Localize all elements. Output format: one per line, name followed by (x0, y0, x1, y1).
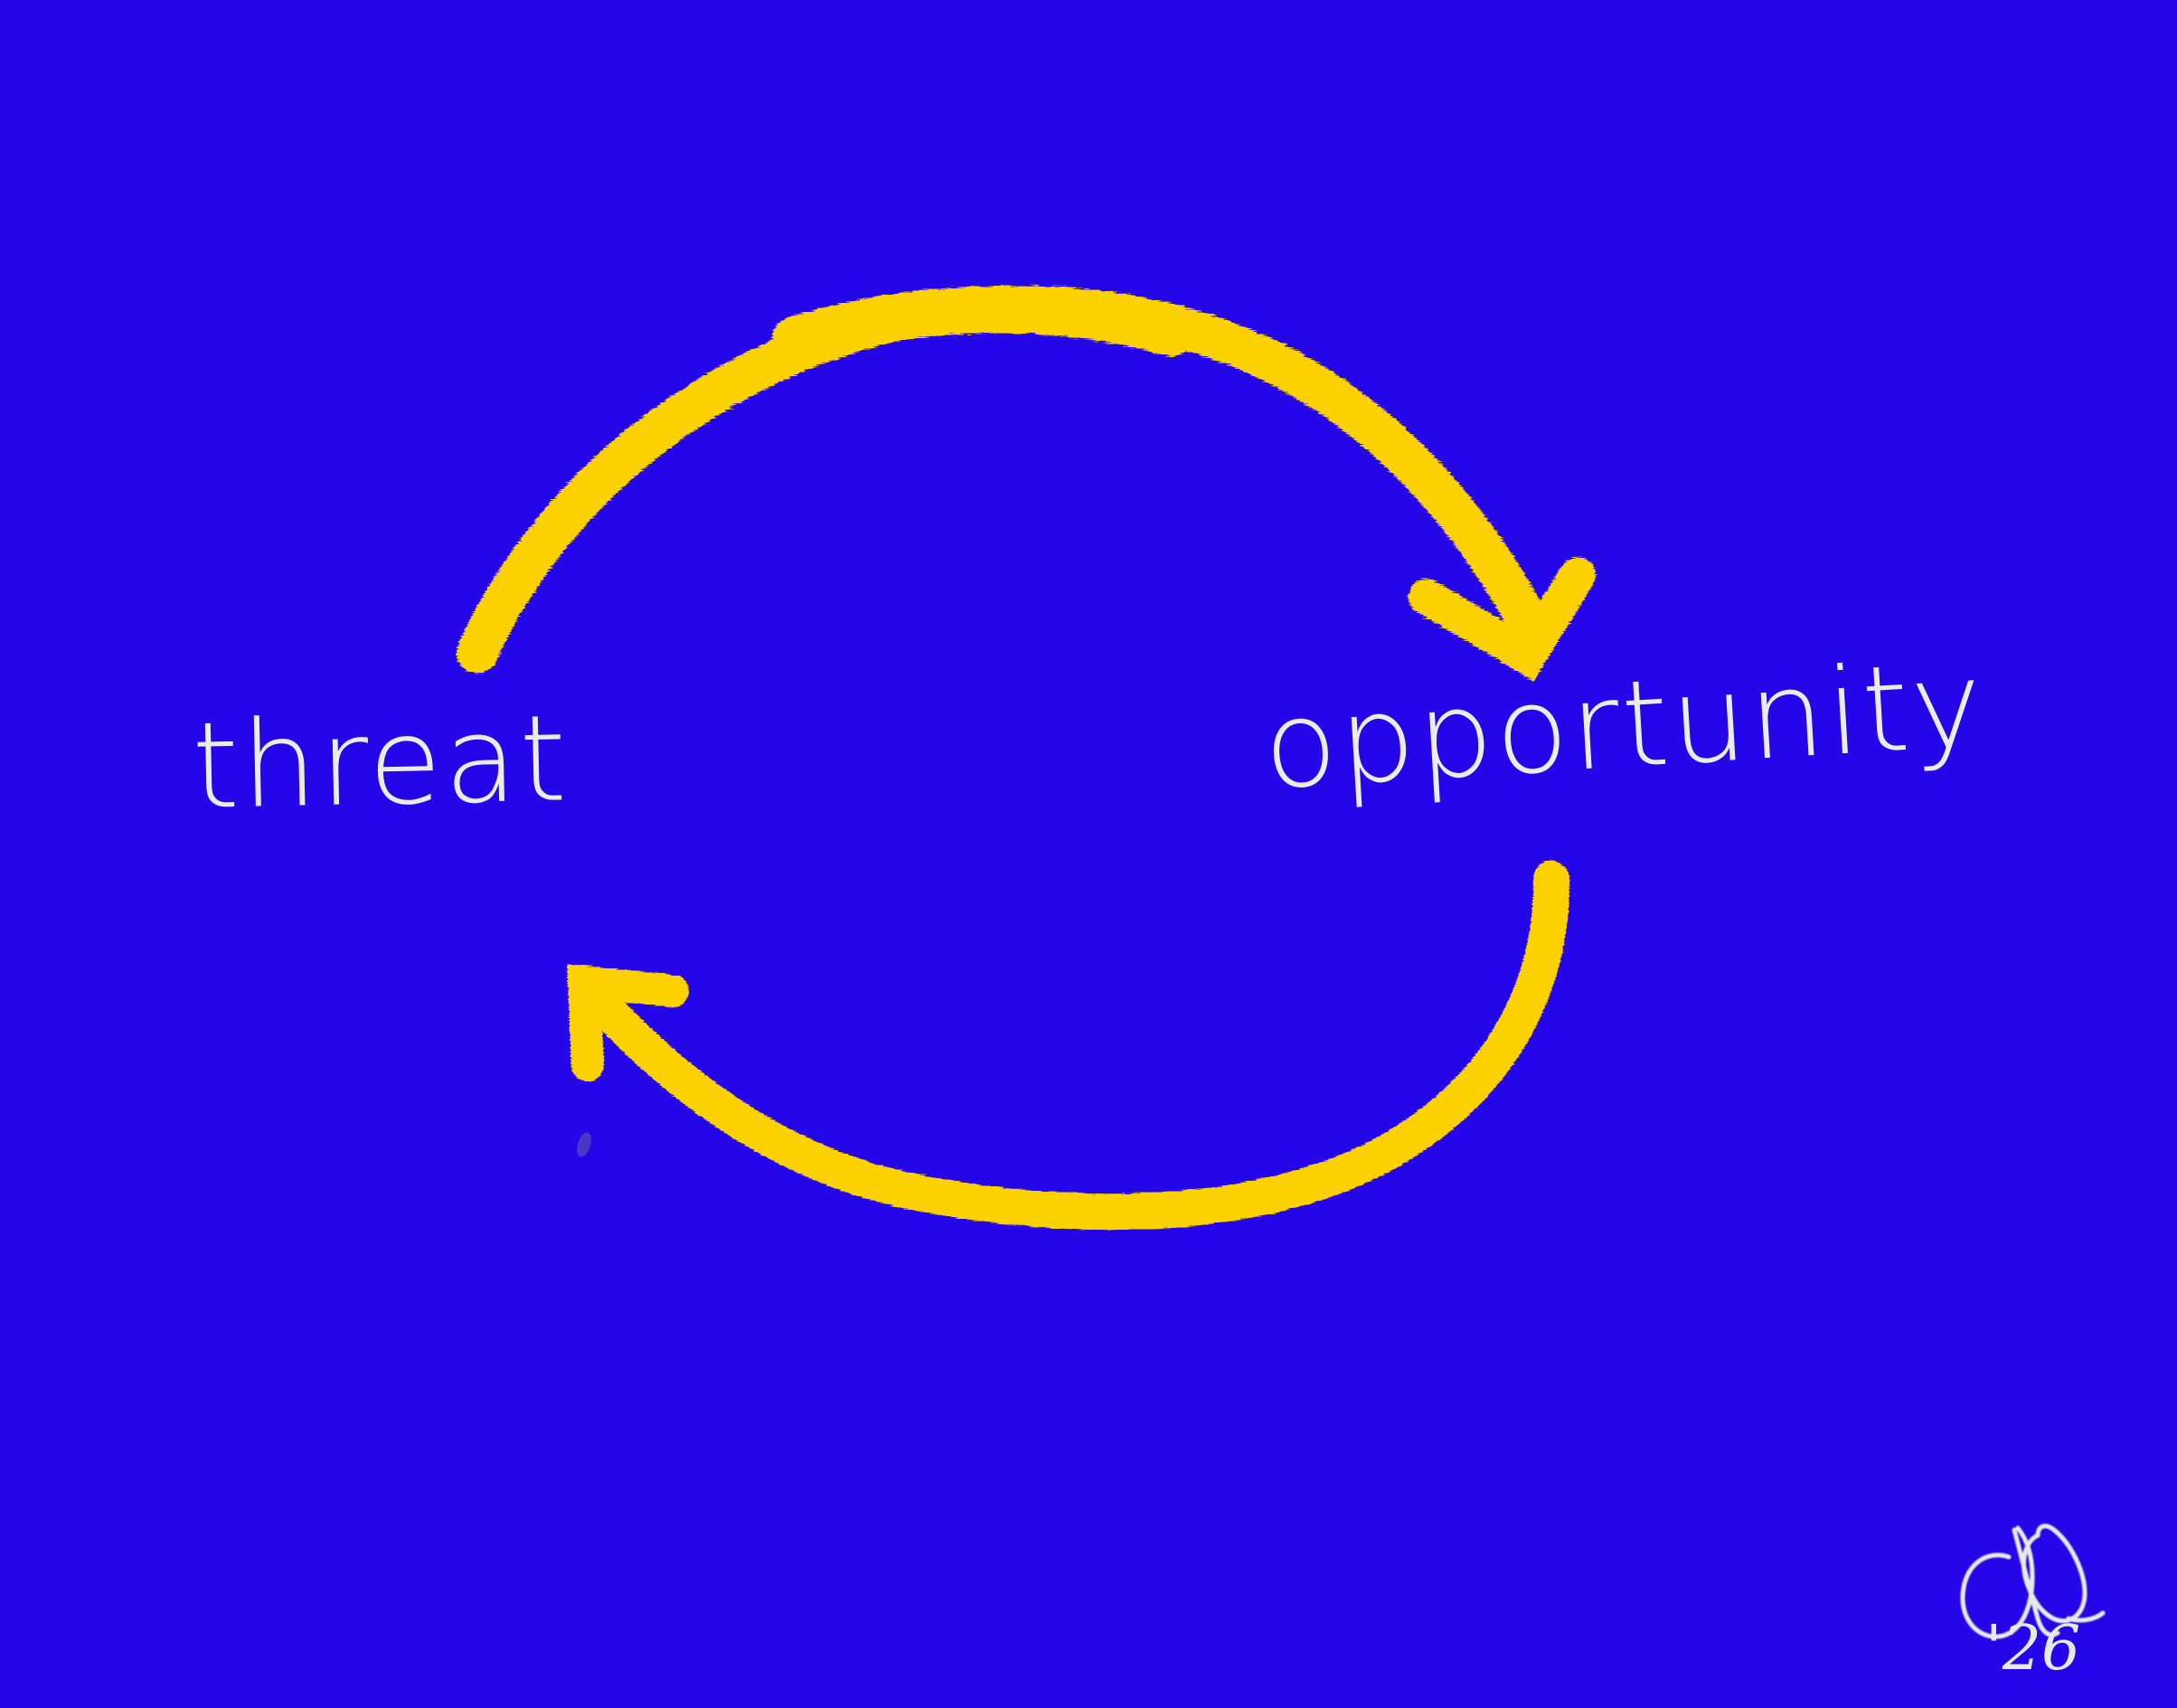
signature-year: '26 (1985, 1618, 2080, 1680)
handdrawn-cycle-illustration (0, 0, 2177, 1708)
drawing-canvas: threat opportunity '26 (0, 0, 2177, 1708)
background (0, 0, 2177, 1708)
